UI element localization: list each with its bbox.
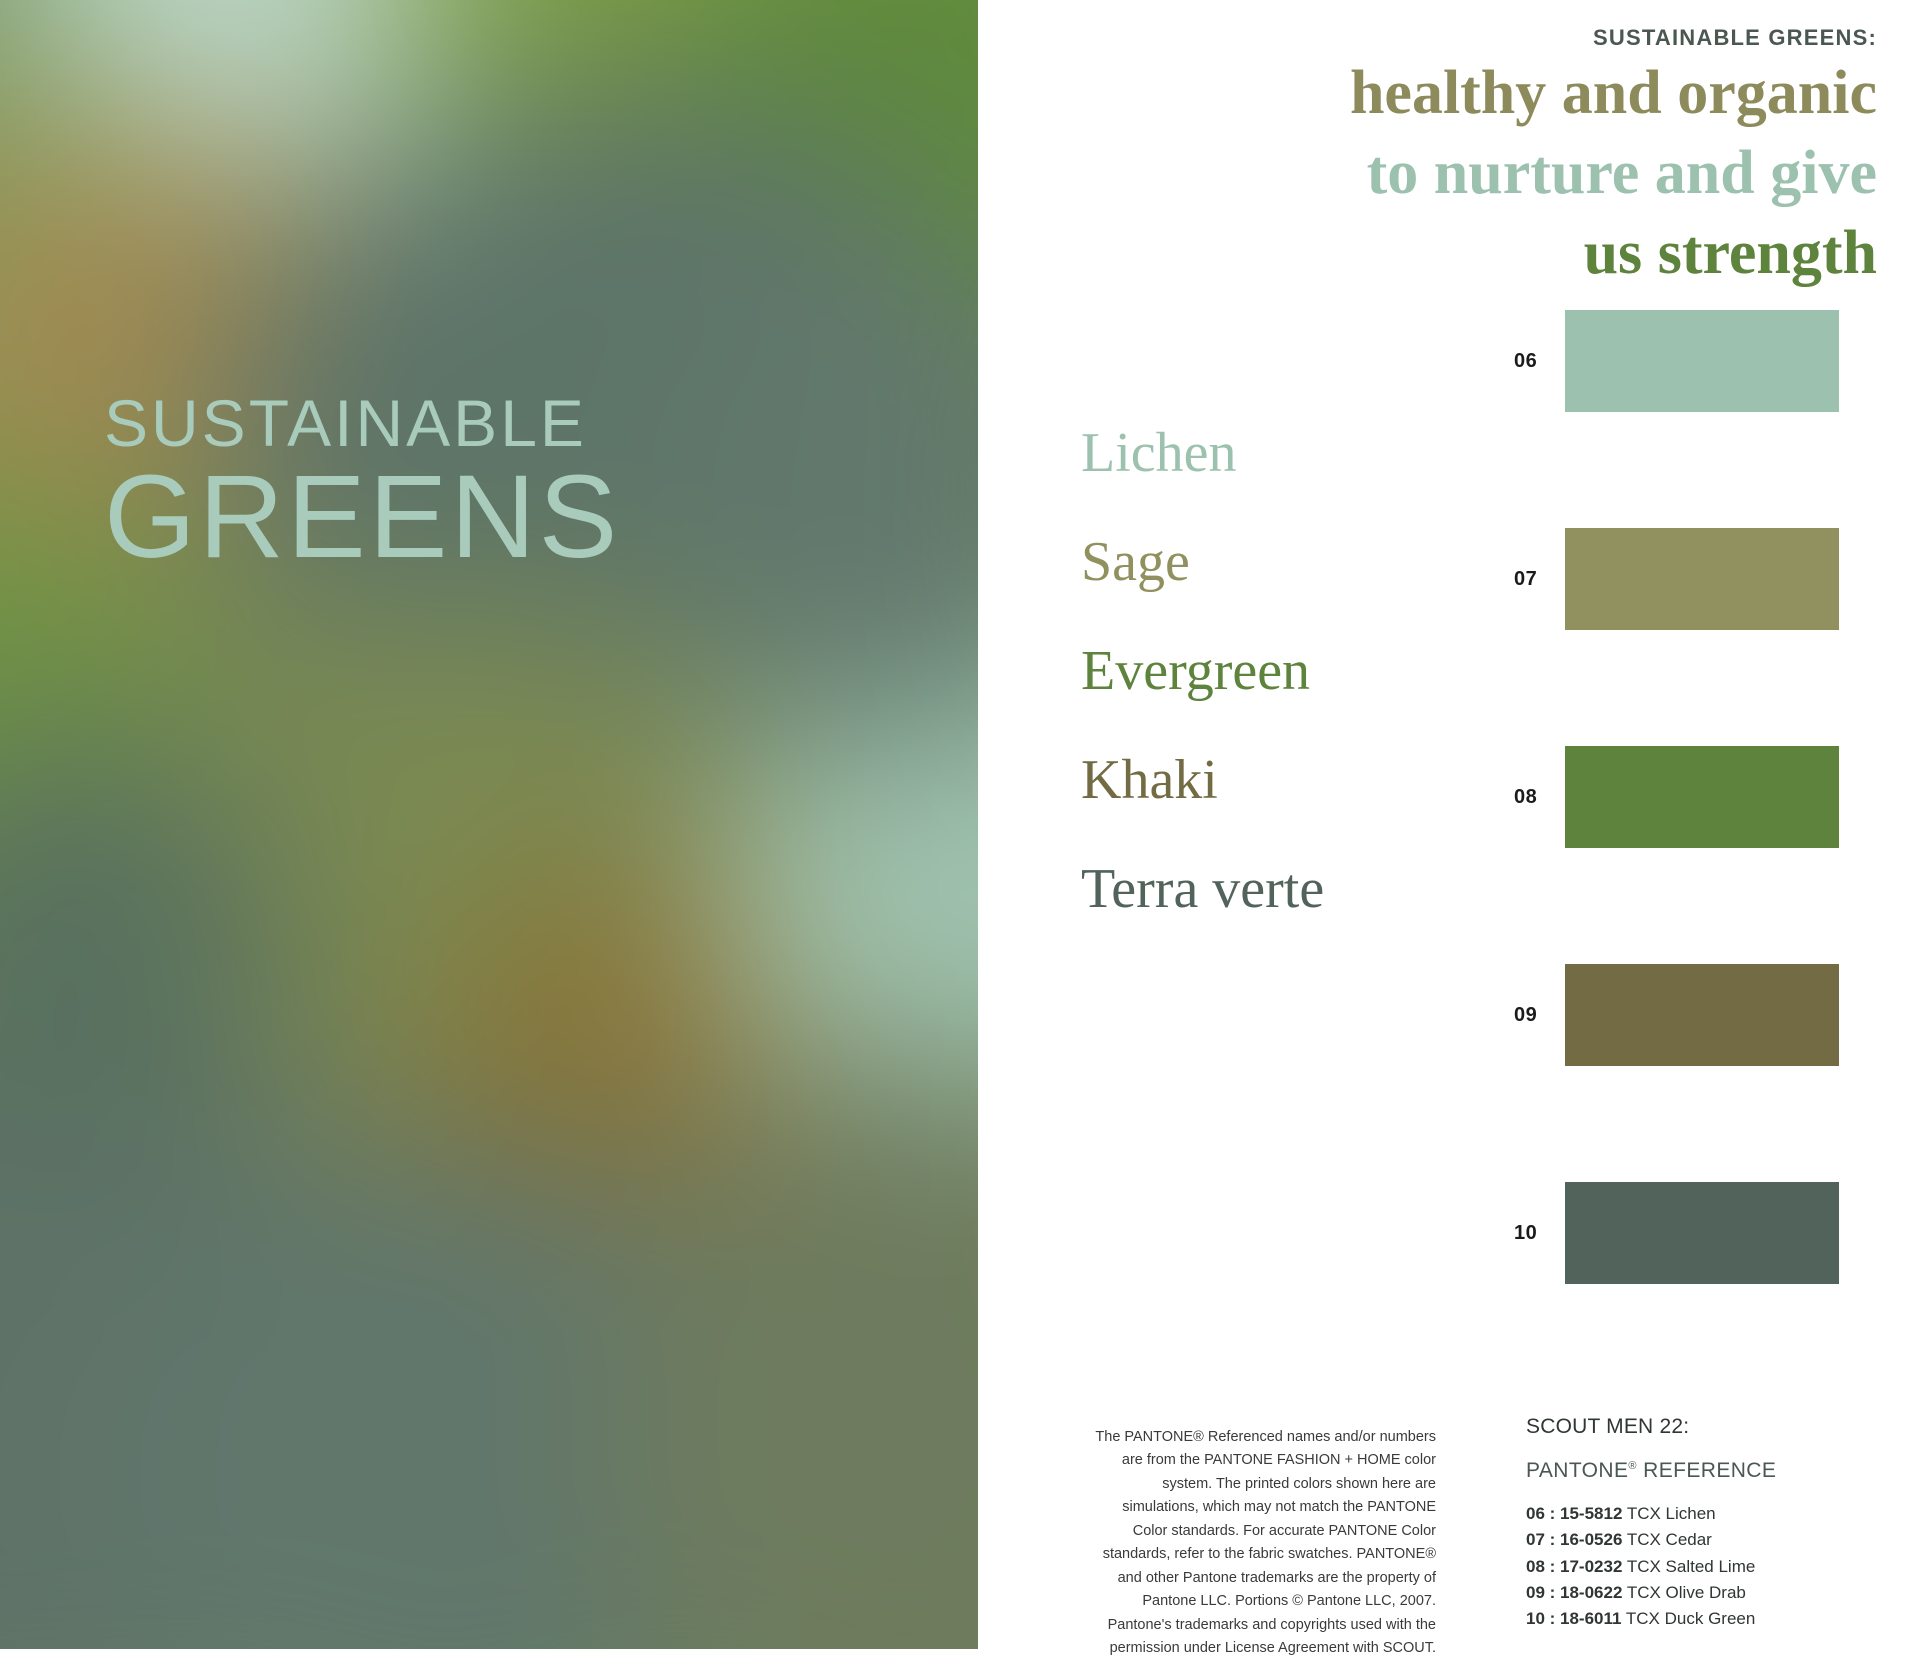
swatch-chip-lichen[interactable] [1565,310,1839,412]
color-name-sage: Sage [1081,534,1190,590]
eyebrow-label: SUSTAINABLE GREENS: [1593,25,1877,51]
swatch-row: 09 [1478,964,1920,1182]
palette-panel: SUSTAINABLE GREENS: healthy and organic … [978,0,1920,1649]
swatch-chip-sage[interactable] [1565,528,1839,630]
pantone-reference-list: 06 : 15-5812 TCX Lichen 07 : 16-0526 TCX… [1526,1501,1906,1633]
swatch-chip-khaki[interactable] [1565,964,1839,1066]
headline-line-3: us strength [1017,222,1877,284]
headline-line-1: healthy and organic [1017,62,1877,124]
swatch-chip-terra-verte[interactable] [1565,1182,1839,1284]
pantone-reference-item: 07 : 16-0526 TCX Cedar [1526,1527,1906,1553]
color-name-terra-verte: Terra verte [1081,861,1324,917]
color-name-list: Lichen Sage Evergreen Khaki Terra verte [978,398,1518,943]
swatch-row: 10 [1478,1182,1920,1400]
pantone-disclaimer: The PANTONE® Referenced names and/or num… [1086,1426,1436,1661]
hero-title: SUSTAINABLE GREENS [104,390,824,576]
color-palette-page: SUSTAINABLE GREENS SUSTAINABLE GREENS: h… [0,0,1920,1649]
color-name-row: Khaki [978,725,1518,834]
hero-image-panel: SUSTAINABLE GREENS [0,0,978,1649]
pantone-reference-item: 06 : 15-5812 TCX Lichen [1526,1501,1906,1527]
pantone-reference-block: SCOUT MEN 22: PANTONE® REFERENCE 06 : 15… [1526,1415,1906,1633]
hero-title-line-2: GREENS [104,458,824,576]
pantone-reference-item: 10 : 18-6011 TCX Duck Green [1526,1606,1906,1632]
blurred-gradient-background [0,0,978,1649]
color-name-evergreen: Evergreen [1081,643,1310,699]
color-name-khaki: Khaki [1081,752,1218,808]
collection-title: SCOUT MEN 22: [1526,1415,1906,1439]
color-name-row: Sage [978,507,1518,616]
hero-title-line-1: SUSTAINABLE [104,390,824,456]
pantone-reference-item: 08 : 17-0232 TCX Salted Lime [1526,1554,1906,1580]
swatch-index-06: 06 [1514,310,1537,412]
swatch-list: 06 07 08 09 10 [1478,310,1920,1400]
swatch-row: 07 [1478,528,1920,746]
swatch-index-08: 08 [1514,746,1537,848]
swatch-chip-evergreen[interactable] [1565,746,1839,848]
color-name-row: Terra verte [978,834,1518,943]
headline: healthy and organic to nurture and give … [1017,62,1877,302]
swatch-row: 06 [1478,310,1920,528]
swatch-index-10: 10 [1514,1182,1537,1284]
headline-line-2: to nurture and give [1017,142,1877,204]
swatch-index-09: 09 [1514,964,1537,1066]
color-name-row: Lichen [978,398,1518,507]
swatch-index-07: 07 [1514,528,1537,630]
pantone-reference-item: 09 : 18-0622 TCX Olive Drab [1526,1580,1906,1606]
pantone-reference-heading: PANTONE® REFERENCE [1526,1459,1906,1483]
color-name-row: Evergreen [978,616,1518,725]
swatch-row: 08 [1478,746,1920,964]
color-name-lichen: Lichen [1081,425,1236,481]
